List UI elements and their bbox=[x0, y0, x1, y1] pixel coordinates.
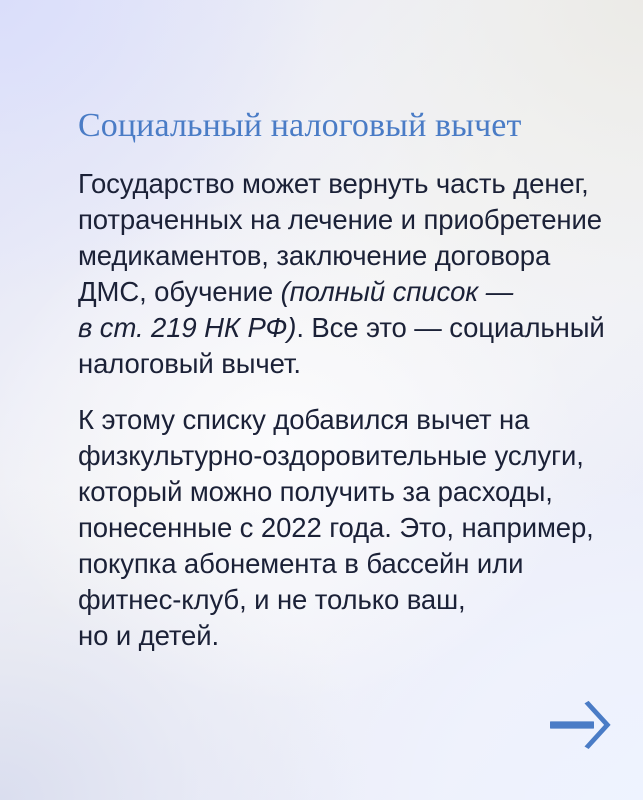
paragraph-2: К этому списку добавился вычет на физкул… bbox=[78, 402, 623, 654]
page-title: Социальный налоговый вычет bbox=[78, 106, 608, 146]
next-arrow-button[interactable] bbox=[548, 700, 612, 750]
arrow-right-glyph bbox=[550, 701, 611, 749]
arrow-right-icon bbox=[548, 700, 612, 750]
text-run: К этому списку добавился вычет на физкул… bbox=[78, 404, 594, 651]
body-text-block: Государство может вернуть часть денег, п… bbox=[78, 166, 623, 654]
slide-card: Социальный налоговый вычет Государство м… bbox=[0, 0, 643, 800]
paragraph-1: Государство может вернуть часть денег, п… bbox=[78, 166, 623, 382]
